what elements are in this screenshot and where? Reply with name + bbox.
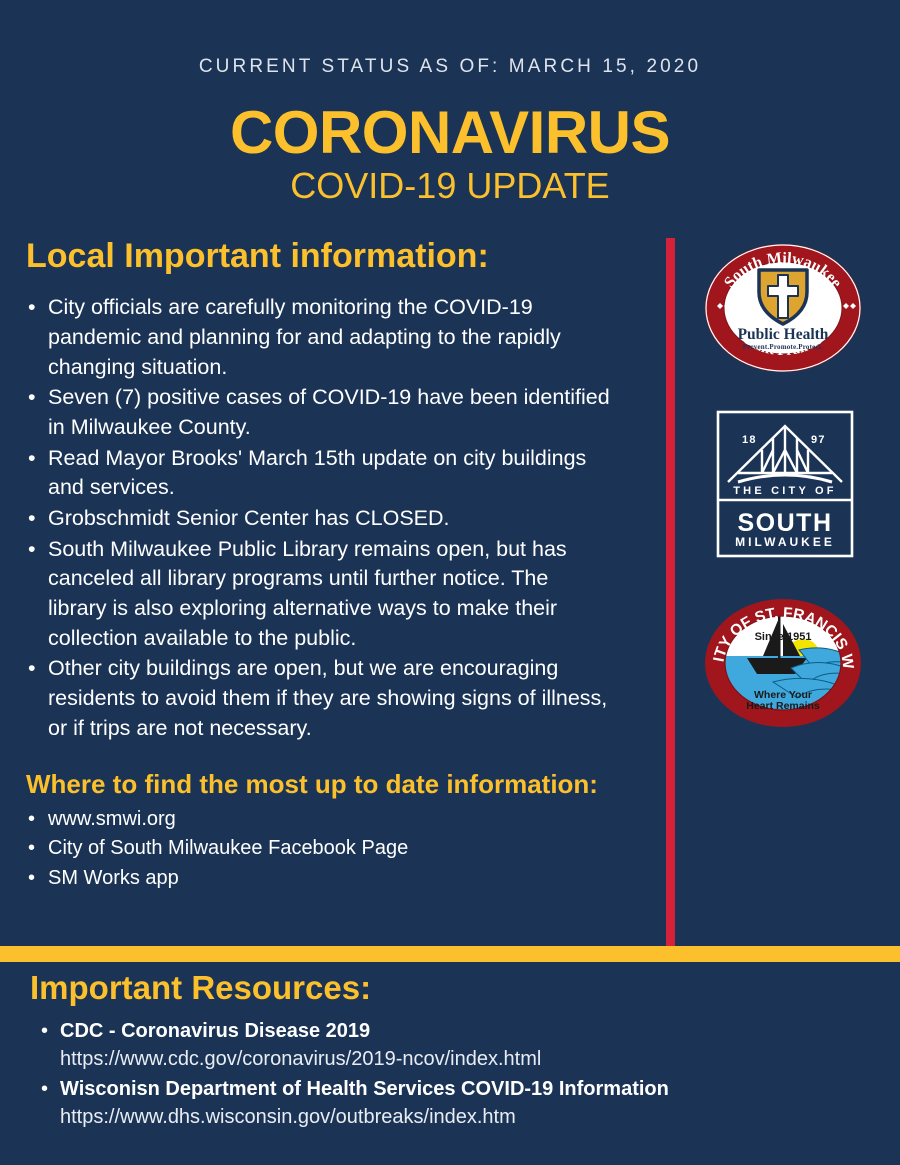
local-info-heading: Local Important information: xyxy=(0,238,650,275)
st-francis-seal-logo: CITY OF ST. FRANCIS WI Since 1951 Where … xyxy=(703,598,863,728)
coronavirus-update-poster: CURRENT STATUS AS OF: MARCH 15, 2020 COR… xyxy=(0,0,900,1165)
city-of-south-milwaukee-logo: 18 97 THE CITY OF SOUTH MILWAUKEE xyxy=(716,410,854,558)
list-item: South Milwaukee Public Library remains o… xyxy=(0,535,650,654)
city-of-label: THE CITY OF xyxy=(733,485,836,497)
year-right-text: 97 xyxy=(811,434,826,446)
status-date-line: CURRENT STATUS AS OF: MARCH 15, 2020 xyxy=(0,56,900,78)
important-resources-section: Important Resources: CDC - Coronavirus D… xyxy=(0,962,900,1134)
since-year-text: Since 1951 xyxy=(755,631,812,643)
list-item-facebook[interactable]: City of South Milwaukee Facebook Page xyxy=(0,835,650,863)
resources-list: CDC - Coronavirus Disease 2019 https://w… xyxy=(0,1018,900,1131)
list-item: Wisconisn Department of Health Services … xyxy=(0,1076,900,1131)
seal-title-text: Public Health xyxy=(738,326,829,343)
public-health-seal-logo: South Milwaukee Saint Francis Public Hea… xyxy=(703,243,863,373)
list-item: Other city buildings are open, but we ar… xyxy=(0,654,650,743)
list-item: Read Mayor Brooks' March 15th update on … xyxy=(0,444,650,503)
vertical-divider xyxy=(666,238,675,946)
south-label: SOUTH xyxy=(738,509,833,537)
list-item: CDC - Coronavirus Disease 2019 https://w… xyxy=(0,1018,900,1073)
local-info-list: City officials are carefully monitoring … xyxy=(0,293,650,743)
gold-separator-bar xyxy=(0,946,900,962)
milwaukee-label: MILWAUKEE xyxy=(735,535,835,549)
where-to-find-list: www.smwi.org City of South Milwaukee Fac… xyxy=(0,806,650,893)
list-item: Grobschmidt Senior Center has CLOSED. xyxy=(0,504,650,534)
list-item: Seven (7) positive cases of COVID-19 hav… xyxy=(0,383,650,442)
where-to-find-heading: Where to find the most up to date inform… xyxy=(0,770,650,799)
resource-title: Wisconisn Department of Health Services … xyxy=(60,1076,900,1103)
page-title: CORONAVIRUS xyxy=(0,103,900,163)
list-item-website[interactable]: www.smwi.org xyxy=(0,806,650,834)
year-left-text: 18 xyxy=(742,434,757,446)
sf-tagline-line2: Heart Remains xyxy=(746,700,820,712)
resource-url[interactable]: https://www.dhs.wisconsin.gov/outbreaks/… xyxy=(60,1103,900,1131)
page-subtitle: COVID-19 UPDATE xyxy=(0,168,900,204)
list-item: City officials are carefully monitoring … xyxy=(0,293,650,382)
list-item-app[interactable]: SM Works app xyxy=(0,865,650,893)
resources-heading: Important Resources: xyxy=(0,962,900,1006)
seal-tagline-text: Prevent.Promote.Protect. xyxy=(743,343,823,351)
resource-url[interactable]: https://www.cdc.gov/coronavirus/2019-nco… xyxy=(60,1045,900,1073)
left-content-column: Local Important information: City offici… xyxy=(0,238,650,895)
resource-title: CDC - Coronavirus Disease 2019 xyxy=(60,1018,900,1045)
